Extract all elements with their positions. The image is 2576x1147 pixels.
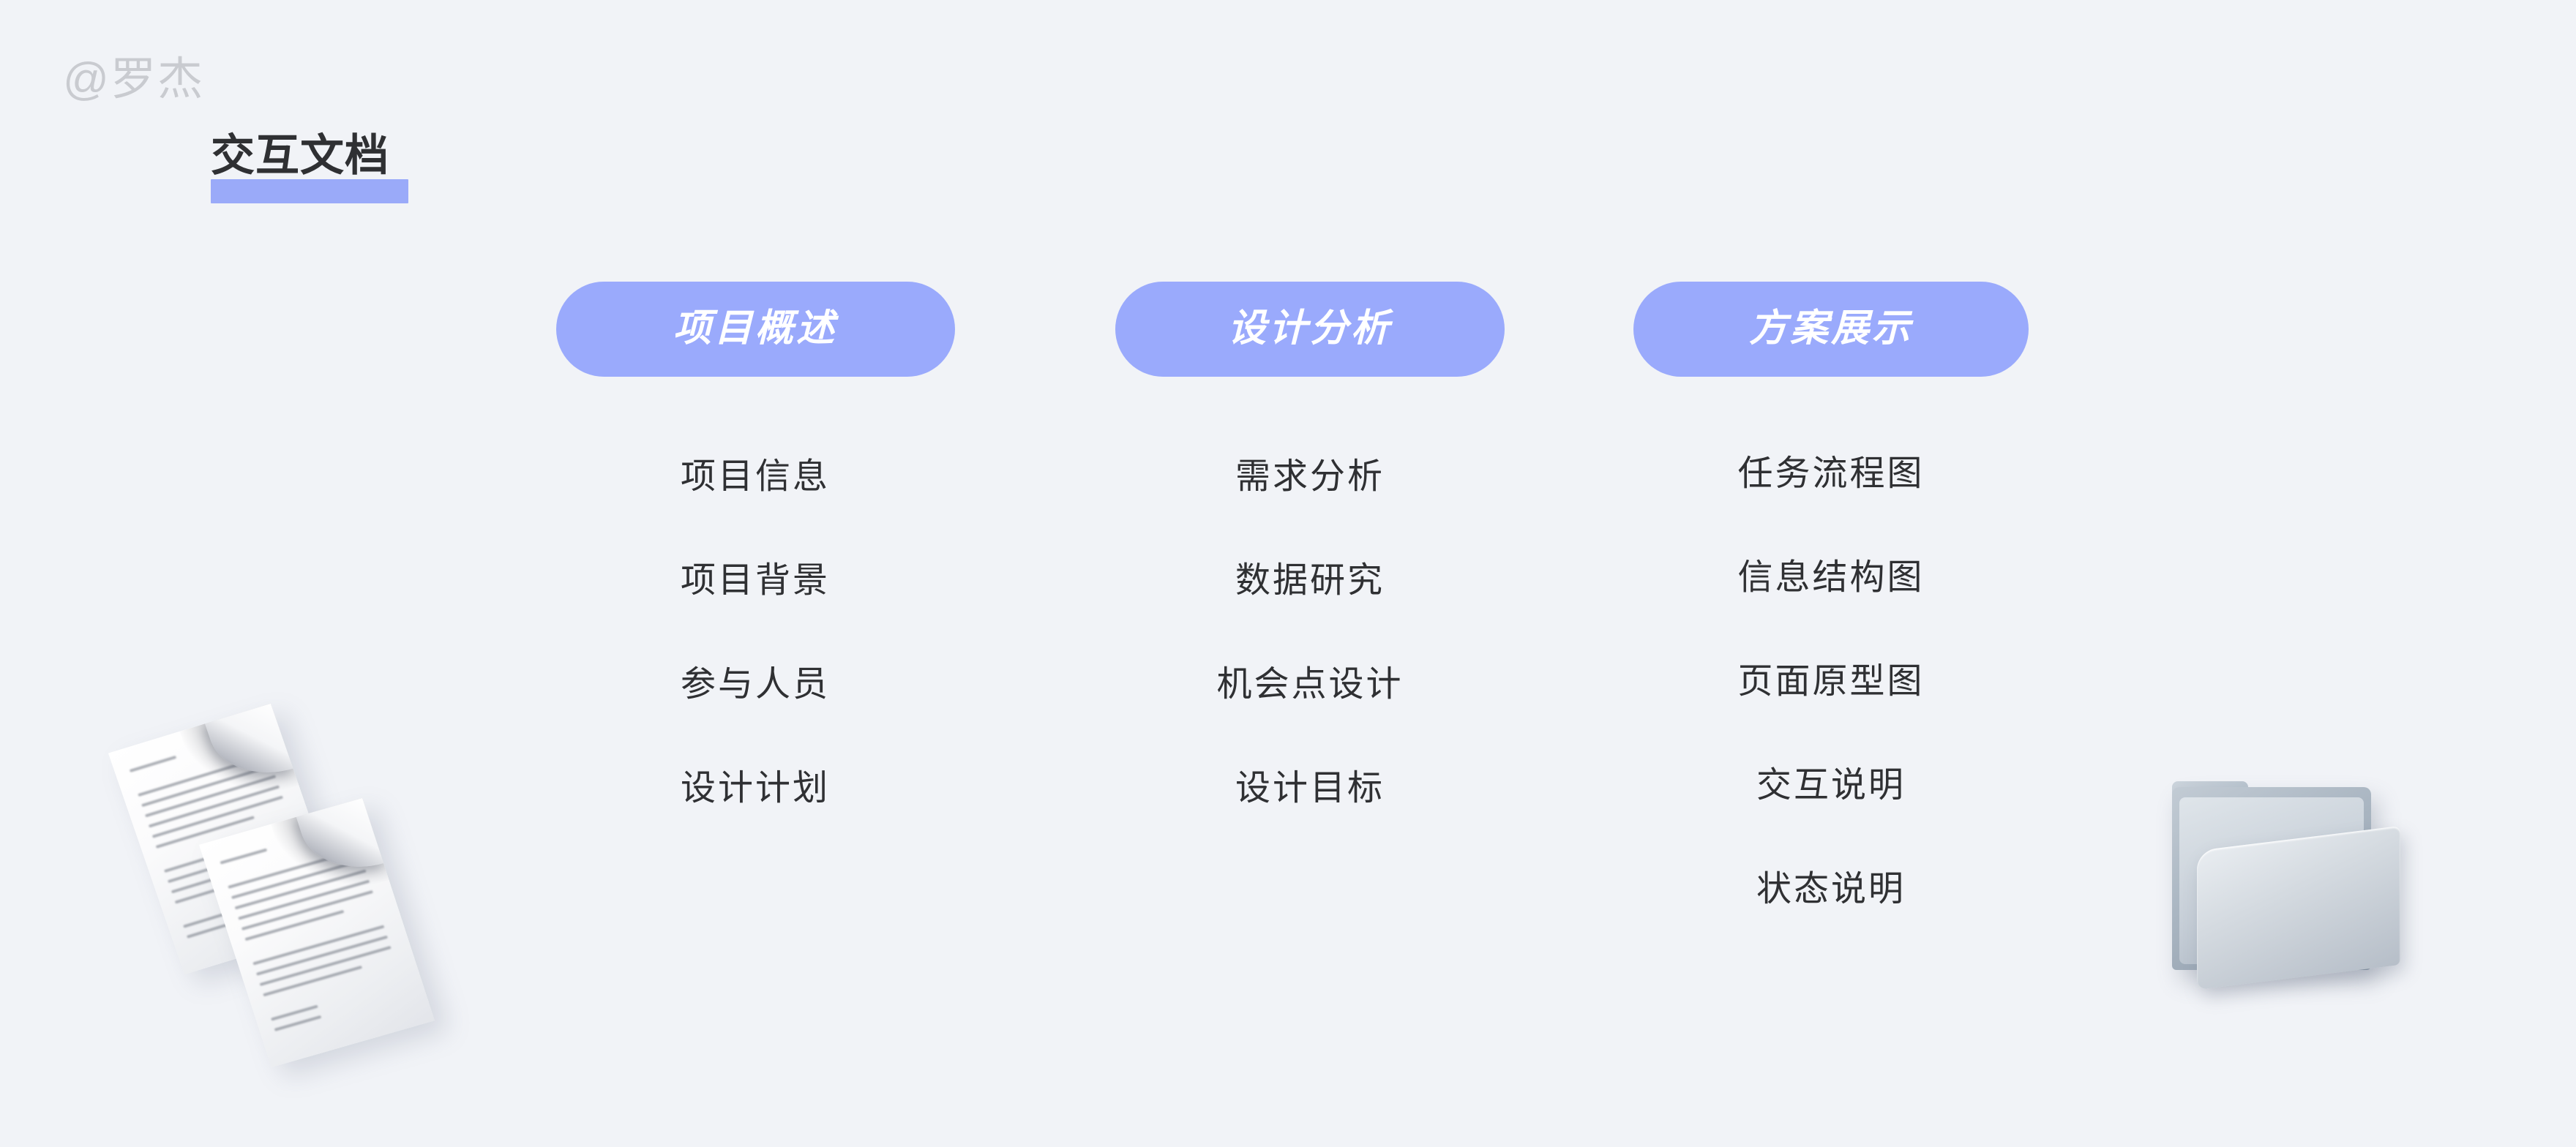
list-item[interactable]: 数据研究 xyxy=(1235,529,1385,633)
list-item[interactable]: 设计目标 xyxy=(1235,737,1385,840)
category-pill-design-analysis[interactable]: 设计分析 xyxy=(1115,282,1505,377)
documents-illustration xyxy=(135,713,574,1094)
list-item[interactable]: 项目背景 xyxy=(681,529,830,633)
list-item[interactable]: 页面原型图 xyxy=(1737,630,1924,734)
column-solution-showcase: 方案展示 任务流程图 信息结构图 页面原型图 交互说明 状态说明 xyxy=(1626,282,2036,941)
list-item[interactable]: 交互说明 xyxy=(1756,734,1906,838)
letter-sheet-front xyxy=(199,798,435,1067)
category-pill-label: 项目概述 xyxy=(673,309,837,347)
list-item[interactable]: 项目信息 xyxy=(681,425,830,529)
category-pill-solution-showcase[interactable]: 方案展示 xyxy=(1633,282,2029,377)
folder-front-panel xyxy=(2197,826,2400,990)
text-line xyxy=(149,785,280,827)
folder-illustration xyxy=(2166,781,2408,1001)
list-item[interactable]: 需求分析 xyxy=(1235,425,1385,529)
column-project-overview: 项目概述 项目信息 项目背景 参与人员 设计计划 xyxy=(550,282,960,840)
category-pill-project-overview[interactable]: 项目概述 xyxy=(556,282,955,377)
column-design-analysis: 设计分析 需求分析 数据研究 机会点设计 设计目标 xyxy=(1105,282,1515,840)
item-list-project-overview: 项目信息 项目背景 参与人员 设计计划 xyxy=(681,425,830,840)
category-pill-label: 设计分析 xyxy=(1228,309,1392,347)
list-item[interactable]: 任务流程图 xyxy=(1737,422,1924,526)
list-item[interactable]: 状态说明 xyxy=(1756,838,1906,941)
item-list-design-analysis: 需求分析 数据研究 机会点设计 设计目标 xyxy=(1216,425,1403,840)
list-item[interactable]: 信息结构图 xyxy=(1737,526,1924,630)
list-item[interactable]: 参与人员 xyxy=(681,633,830,737)
slide-canvas: @罗杰 交互文档 项目概述 项目信息 项目背景 参与人员 设计计划 设计分析 需… xyxy=(0,0,2576,1147)
category-pill-label: 方案展示 xyxy=(1749,309,1913,347)
list-item[interactable]: 设计计划 xyxy=(681,737,830,840)
item-list-solution-showcase: 任务流程图 信息结构图 页面原型图 交互说明 状态说明 xyxy=(1737,422,1924,941)
list-item[interactable]: 机会点设计 xyxy=(1216,633,1403,737)
